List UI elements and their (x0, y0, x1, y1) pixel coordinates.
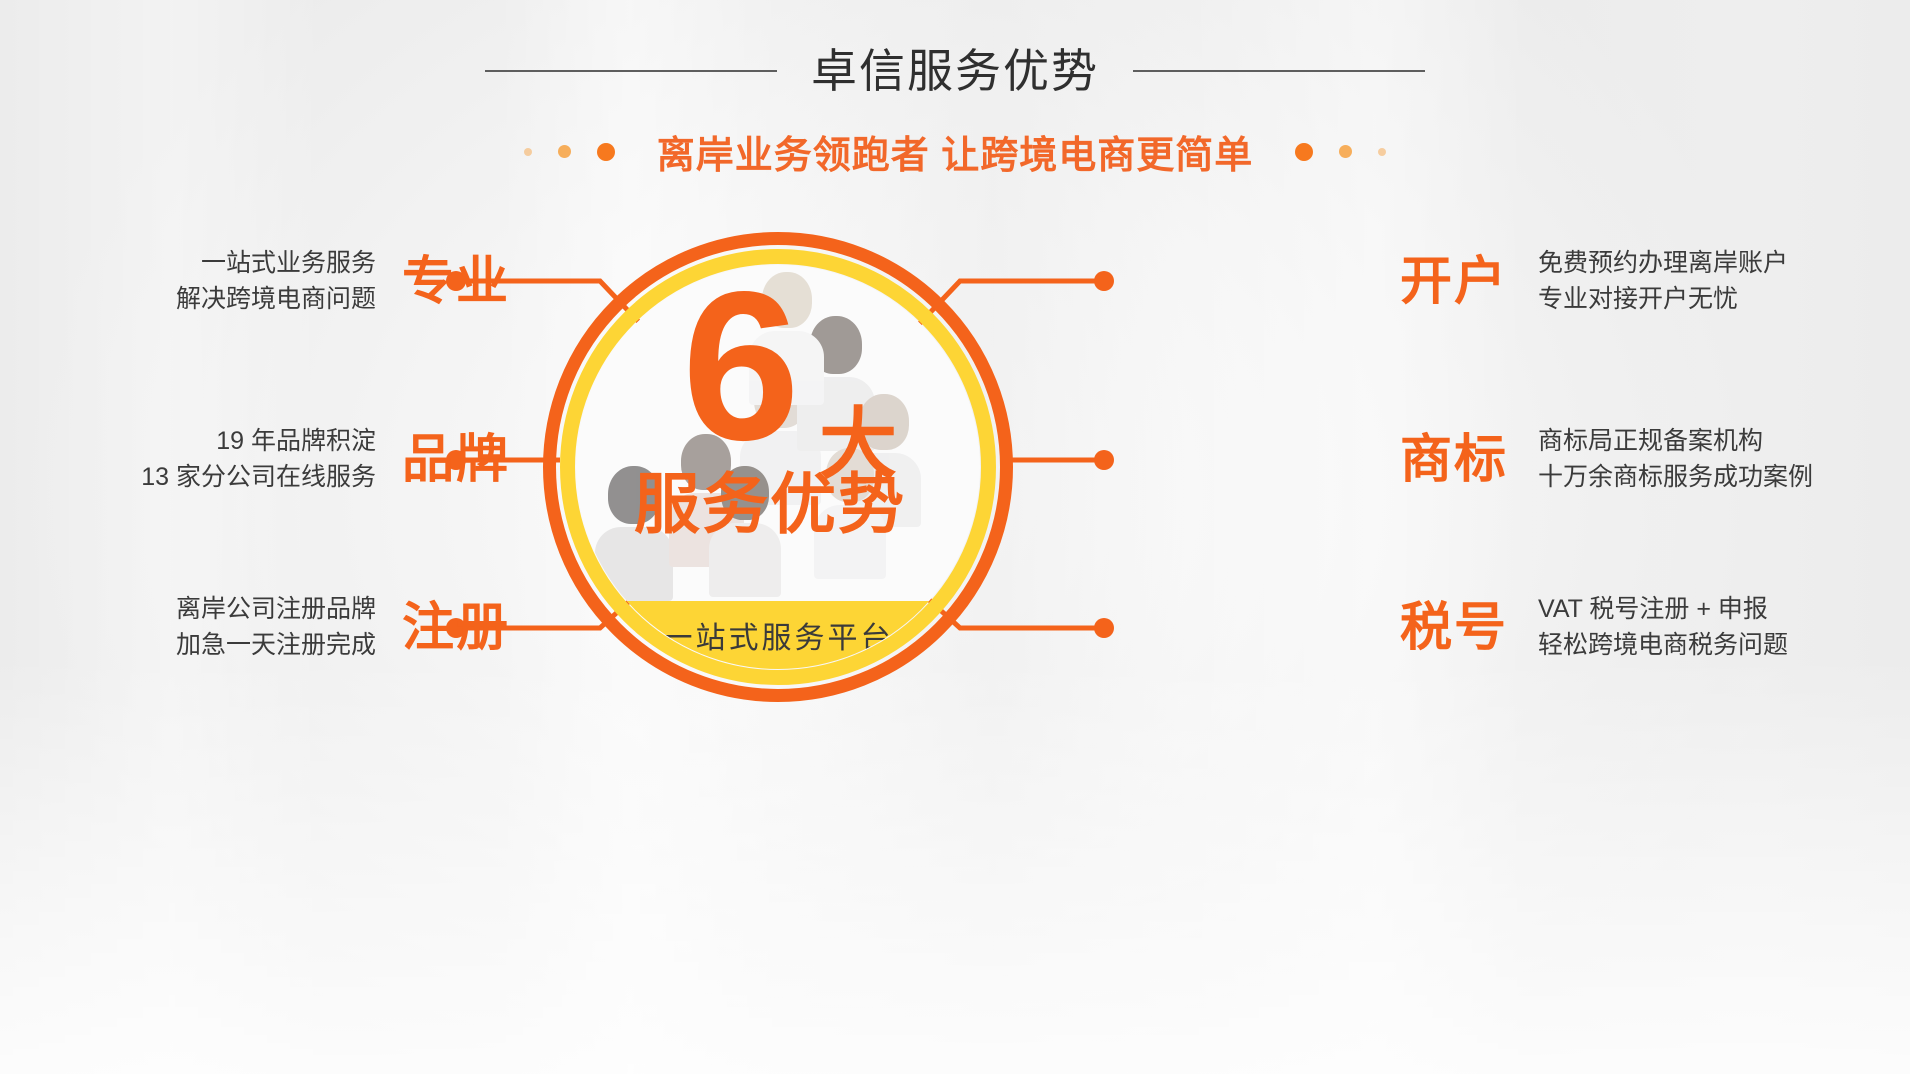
dot-icon (524, 148, 532, 156)
feature-item-left-1[interactable]: 一站式业务服务 解决跨境电商问题 专业 (176, 246, 510, 317)
page-title: 卓信服务优势 (811, 48, 1099, 94)
title-rule-right (1133, 70, 1425, 72)
feature-item-right-2[interactable]: 商标 商标局正规备案机构 十万余商标服务成功案例 (1400, 424, 1813, 495)
header: 卓信服务优势 离岸业务领跑者 让跨境电商更简单 (0, 48, 1910, 179)
connector-node-right-3 (1094, 618, 1114, 638)
feature-key: 品牌 (402, 434, 510, 486)
feature-key: 税号 (1400, 602, 1508, 654)
feature-desc-line1: 19 年品牌积淀 (141, 424, 376, 460)
dot-icon (558, 145, 571, 158)
feature-key: 专业 (402, 256, 510, 308)
center-ring: 一站式服务平台 6 大 服务优势 (543, 232, 1013, 702)
connector-node-right-1 (1094, 271, 1114, 291)
feature-desc-line2: 轻松跨境电商税务问题 (1538, 628, 1788, 664)
feature-desc-line1: VAT 税号注册 + 申报 (1538, 592, 1788, 628)
decorative-dots-right (1295, 143, 1386, 161)
feature-item-right-3[interactable]: 税号 VAT 税号注册 + 申报 轻松跨境电商税务问题 (1400, 592, 1788, 663)
feature-desc: 商标局正规备案机构 十万余商标服务成功案例 (1538, 424, 1813, 495)
title-rule-left (485, 70, 777, 72)
feature-desc-line2: 专业对接开户无忧 (1538, 282, 1788, 318)
dot-icon (597, 143, 615, 161)
feature-desc-line2: 解决跨境电商问题 (176, 282, 376, 318)
band-text: 一站式服务平台 (663, 613, 894, 657)
feature-item-left-2[interactable]: 19 年品牌积淀 13 家分公司在线服务 品牌 (141, 424, 510, 495)
page-subtitle: 离岸业务领跑者 让跨境电商更简单 (657, 124, 1254, 179)
feature-desc-line1: 离岸公司注册品牌 (176, 592, 376, 628)
feature-desc: VAT 税号注册 + 申报 轻松跨境电商税务问题 (1538, 592, 1788, 663)
title-row: 卓信服务优势 (0, 48, 1910, 94)
feature-desc: 离岸公司注册品牌 加急一天注册完成 (176, 592, 376, 663)
feature-desc-line2: 加急一天注册完成 (176, 628, 376, 664)
decorative-dots-left (524, 143, 615, 161)
infographic-stage: 卓信服务优势 离岸业务领跑者 让跨境电商更简单 (0, 0, 1910, 1074)
feature-item-right-1[interactable]: 开户 免费预约办理离岸账户 专业对接开户无忧 (1400, 246, 1788, 317)
bottom-band: 一站式服务平台 (576, 601, 980, 669)
connector-node-right-2 (1094, 450, 1114, 470)
subtitle-row: 离岸业务领跑者 让跨境电商更简单 (0, 124, 1910, 179)
feature-desc-line1: 免费预约办理离岸账户 (1538, 246, 1788, 282)
feature-key: 注册 (402, 602, 510, 654)
feature-desc: 19 年品牌积淀 13 家分公司在线服务 (141, 424, 376, 495)
feature-item-left-3[interactable]: 离岸公司注册品牌 加急一天注册完成 注册 (176, 592, 510, 663)
feature-desc-line2: 十万余商标服务成功案例 (1538, 460, 1813, 496)
feature-desc-line2: 13 家分公司在线服务 (141, 460, 376, 496)
dot-icon (1339, 145, 1352, 158)
dot-icon (1378, 148, 1386, 156)
feature-desc-line1: 商标局正规备案机构 (1538, 424, 1813, 460)
feature-desc: 一站式业务服务 解决跨境电商问题 (176, 246, 376, 317)
feature-desc-line1: 一站式业务服务 (176, 246, 376, 282)
feature-key: 开户 (1400, 256, 1508, 308)
feature-key: 商标 (1400, 434, 1508, 486)
dot-icon (1295, 143, 1313, 161)
feature-desc: 免费预约办理离岸账户 专业对接开户无忧 (1538, 246, 1788, 317)
